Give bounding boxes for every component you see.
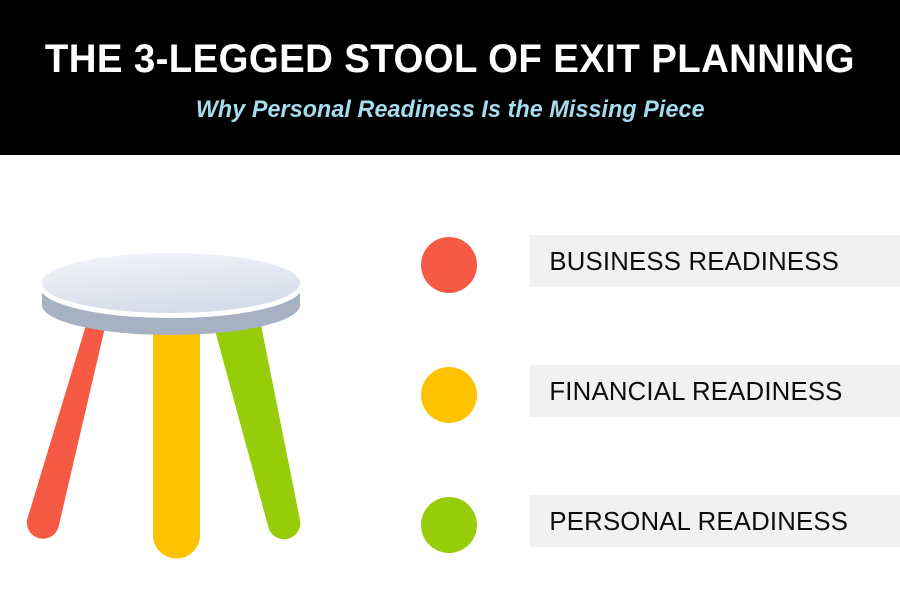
yellow-dot-icon (421, 367, 477, 423)
page-title: THE 3-LEGGED STOOL OF EXIT PLANNING (45, 38, 855, 80)
green-dot-icon (421, 497, 477, 553)
header-banner: THE 3-LEGGED STOOL OF EXIT PLANNING Why … (0, 0, 900, 155)
stool-graphic (20, 220, 340, 580)
legend-label-financial: FINANCIAL READINESS (532, 376, 843, 407)
legend-bar-financial: FINANCIAL READINESS (530, 365, 900, 417)
page-subtitle: Why Personal Readiness Is the Missing Pi… (196, 96, 705, 124)
legend-label-business: BUSINESS READINESS (532, 246, 839, 277)
legend-item-financial[interactable]: FINANCIAL READINESS (415, 360, 900, 430)
legend-bar-business: BUSINESS READINESS (530, 235, 900, 287)
stool-leg-center-yellow (153, 328, 200, 558)
legend-list: BUSINESS READINESS FINANCIAL READINESS P… (415, 230, 900, 570)
legend-label-personal: PERSONAL READINESS (532, 506, 849, 537)
stool-seat-top (42, 253, 300, 313)
legend-bar-personal: PERSONAL READINESS (530, 495, 900, 547)
red-dot-icon (421, 237, 477, 293)
stool-legs (27, 320, 300, 558)
infographic-canvas: THE 3-LEGGED STOOL OF EXIT PLANNING Why … (0, 0, 900, 600)
stool-leg-right-green (213, 320, 300, 539)
stool-leg-left-red (27, 323, 106, 539)
legend-item-business[interactable]: BUSINESS READINESS (415, 230, 900, 300)
legend-item-personal[interactable]: PERSONAL READINESS (415, 490, 900, 560)
stool-illustration (20, 220, 340, 580)
